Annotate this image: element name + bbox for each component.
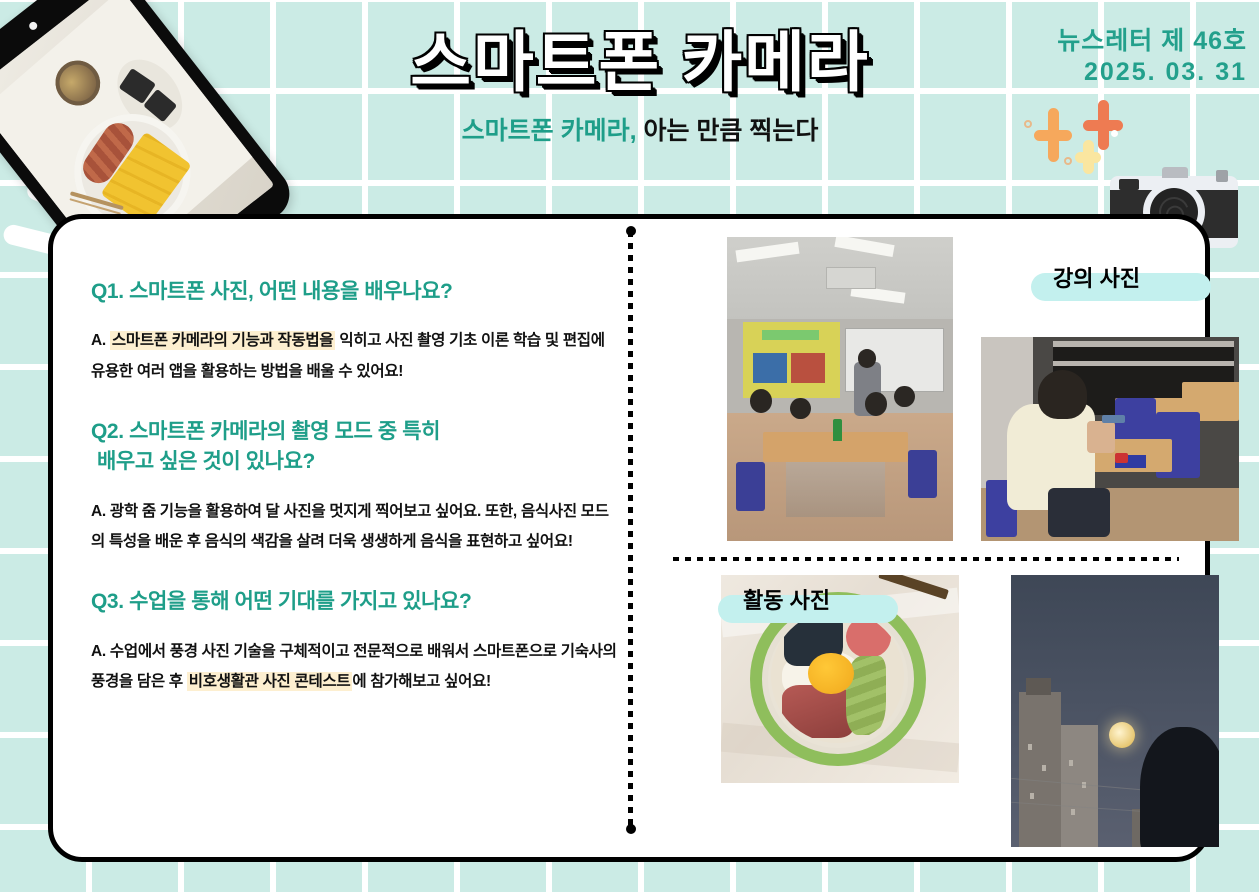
phone-camera-icon <box>28 20 39 31</box>
newsletter-issue: 뉴스레터 제 46호 <box>1057 26 1247 57</box>
moon-night-photo <box>1011 575 1219 847</box>
subtitle-dark-part: 아는 만큼 찍는다 <box>637 117 819 145</box>
content-panel: Q1. 스마트폰 사진, 어떤 내용을 배우나요? A. 스마트폰 카메라의 기… <box>48 214 1210 862</box>
newsletter-poster: 스마트폰 카메라 스마트폰 카메라, 아는 만큼 찍는다 뉴스레터 제 46호 … <box>0 0 1259 892</box>
answer-1-highlight: 스마트폰 카메라의 기능과 작동법을 <box>110 331 335 350</box>
camera-flash-icon <box>1162 167 1188 178</box>
page-title: 스마트폰 카메라 <box>300 28 980 97</box>
ring-sparkle-icon <box>1064 157 1072 165</box>
subtitle-teal-part: 스마트폰 카메라, <box>462 117 637 145</box>
question-2-line1: Q2. 스마트폰 카메라의 촬영 모드 중 특히 <box>91 417 621 447</box>
title-block: 스마트폰 카메라 스마트폰 카메라, 아는 만큼 찍는다 <box>300 28 980 147</box>
vertical-dotted-divider <box>628 231 633 829</box>
horizontal-dotted-divider <box>673 557 1179 561</box>
page-subtitle: 스마트폰 카메라, 아는 만큼 찍는다 <box>300 111 980 147</box>
plus-sparkle-icon <box>1075 140 1101 174</box>
answer-3-rest: 에 참가해보고 싶어요! <box>352 673 491 690</box>
camera-knob-icon <box>1216 170 1228 182</box>
answer-1: A. 스마트폰 카메라의 기능과 작동법을 익히고 사진 촬영 기초 이론 학습… <box>91 326 621 386</box>
plus-sparkle-icon <box>1034 108 1072 162</box>
qa-column: Q1. 스마트폰 사진, 어떤 내용을 배우나요? A. 스마트폰 카메라의 기… <box>91 277 621 697</box>
activity-section-label: 활동 사진 <box>743 583 830 615</box>
answer-3: A. 수업에서 풍경 사진 기술을 구체적이고 전문적으로 배워서 스마트폰으로… <box>91 637 621 697</box>
question-3: Q3. 수업을 통해 어떤 기대를 가지고 있나요? <box>91 587 621 617</box>
camera-viewfinder-icon <box>1119 179 1139 190</box>
dot-sparkle-icon <box>1111 130 1118 137</box>
question-2-line2: 배우고 싶은 것이 있나요? <box>91 447 621 477</box>
ring-sparkle-icon <box>1024 120 1032 128</box>
answer-3-highlight: 비호생활관 사진 콘테스트 <box>187 672 353 691</box>
question-1: Q1. 스마트폰 사진, 어떤 내용을 배우나요? <box>91 277 621 307</box>
photo-area: 강의 사진 활동 사진 <box>653 227 1191 847</box>
answer-2: A. 광학 줌 기능을 활용하여 달 사진을 멋지게 찍어보고 싶어요. 또한,… <box>91 497 621 557</box>
newsletter-meta: 뉴스레터 제 46호 2025. 03. 31 <box>1057 26 1247 89</box>
classroom-lecture-photo <box>727 237 953 541</box>
lecture-section-label: 강의 사진 <box>1053 261 1140 293</box>
student-shooting-photo <box>981 337 1239 541</box>
answer-1-prefix: A. <box>91 332 110 349</box>
newsletter-date: 2025. 03. 31 <box>1057 57 1247 88</box>
